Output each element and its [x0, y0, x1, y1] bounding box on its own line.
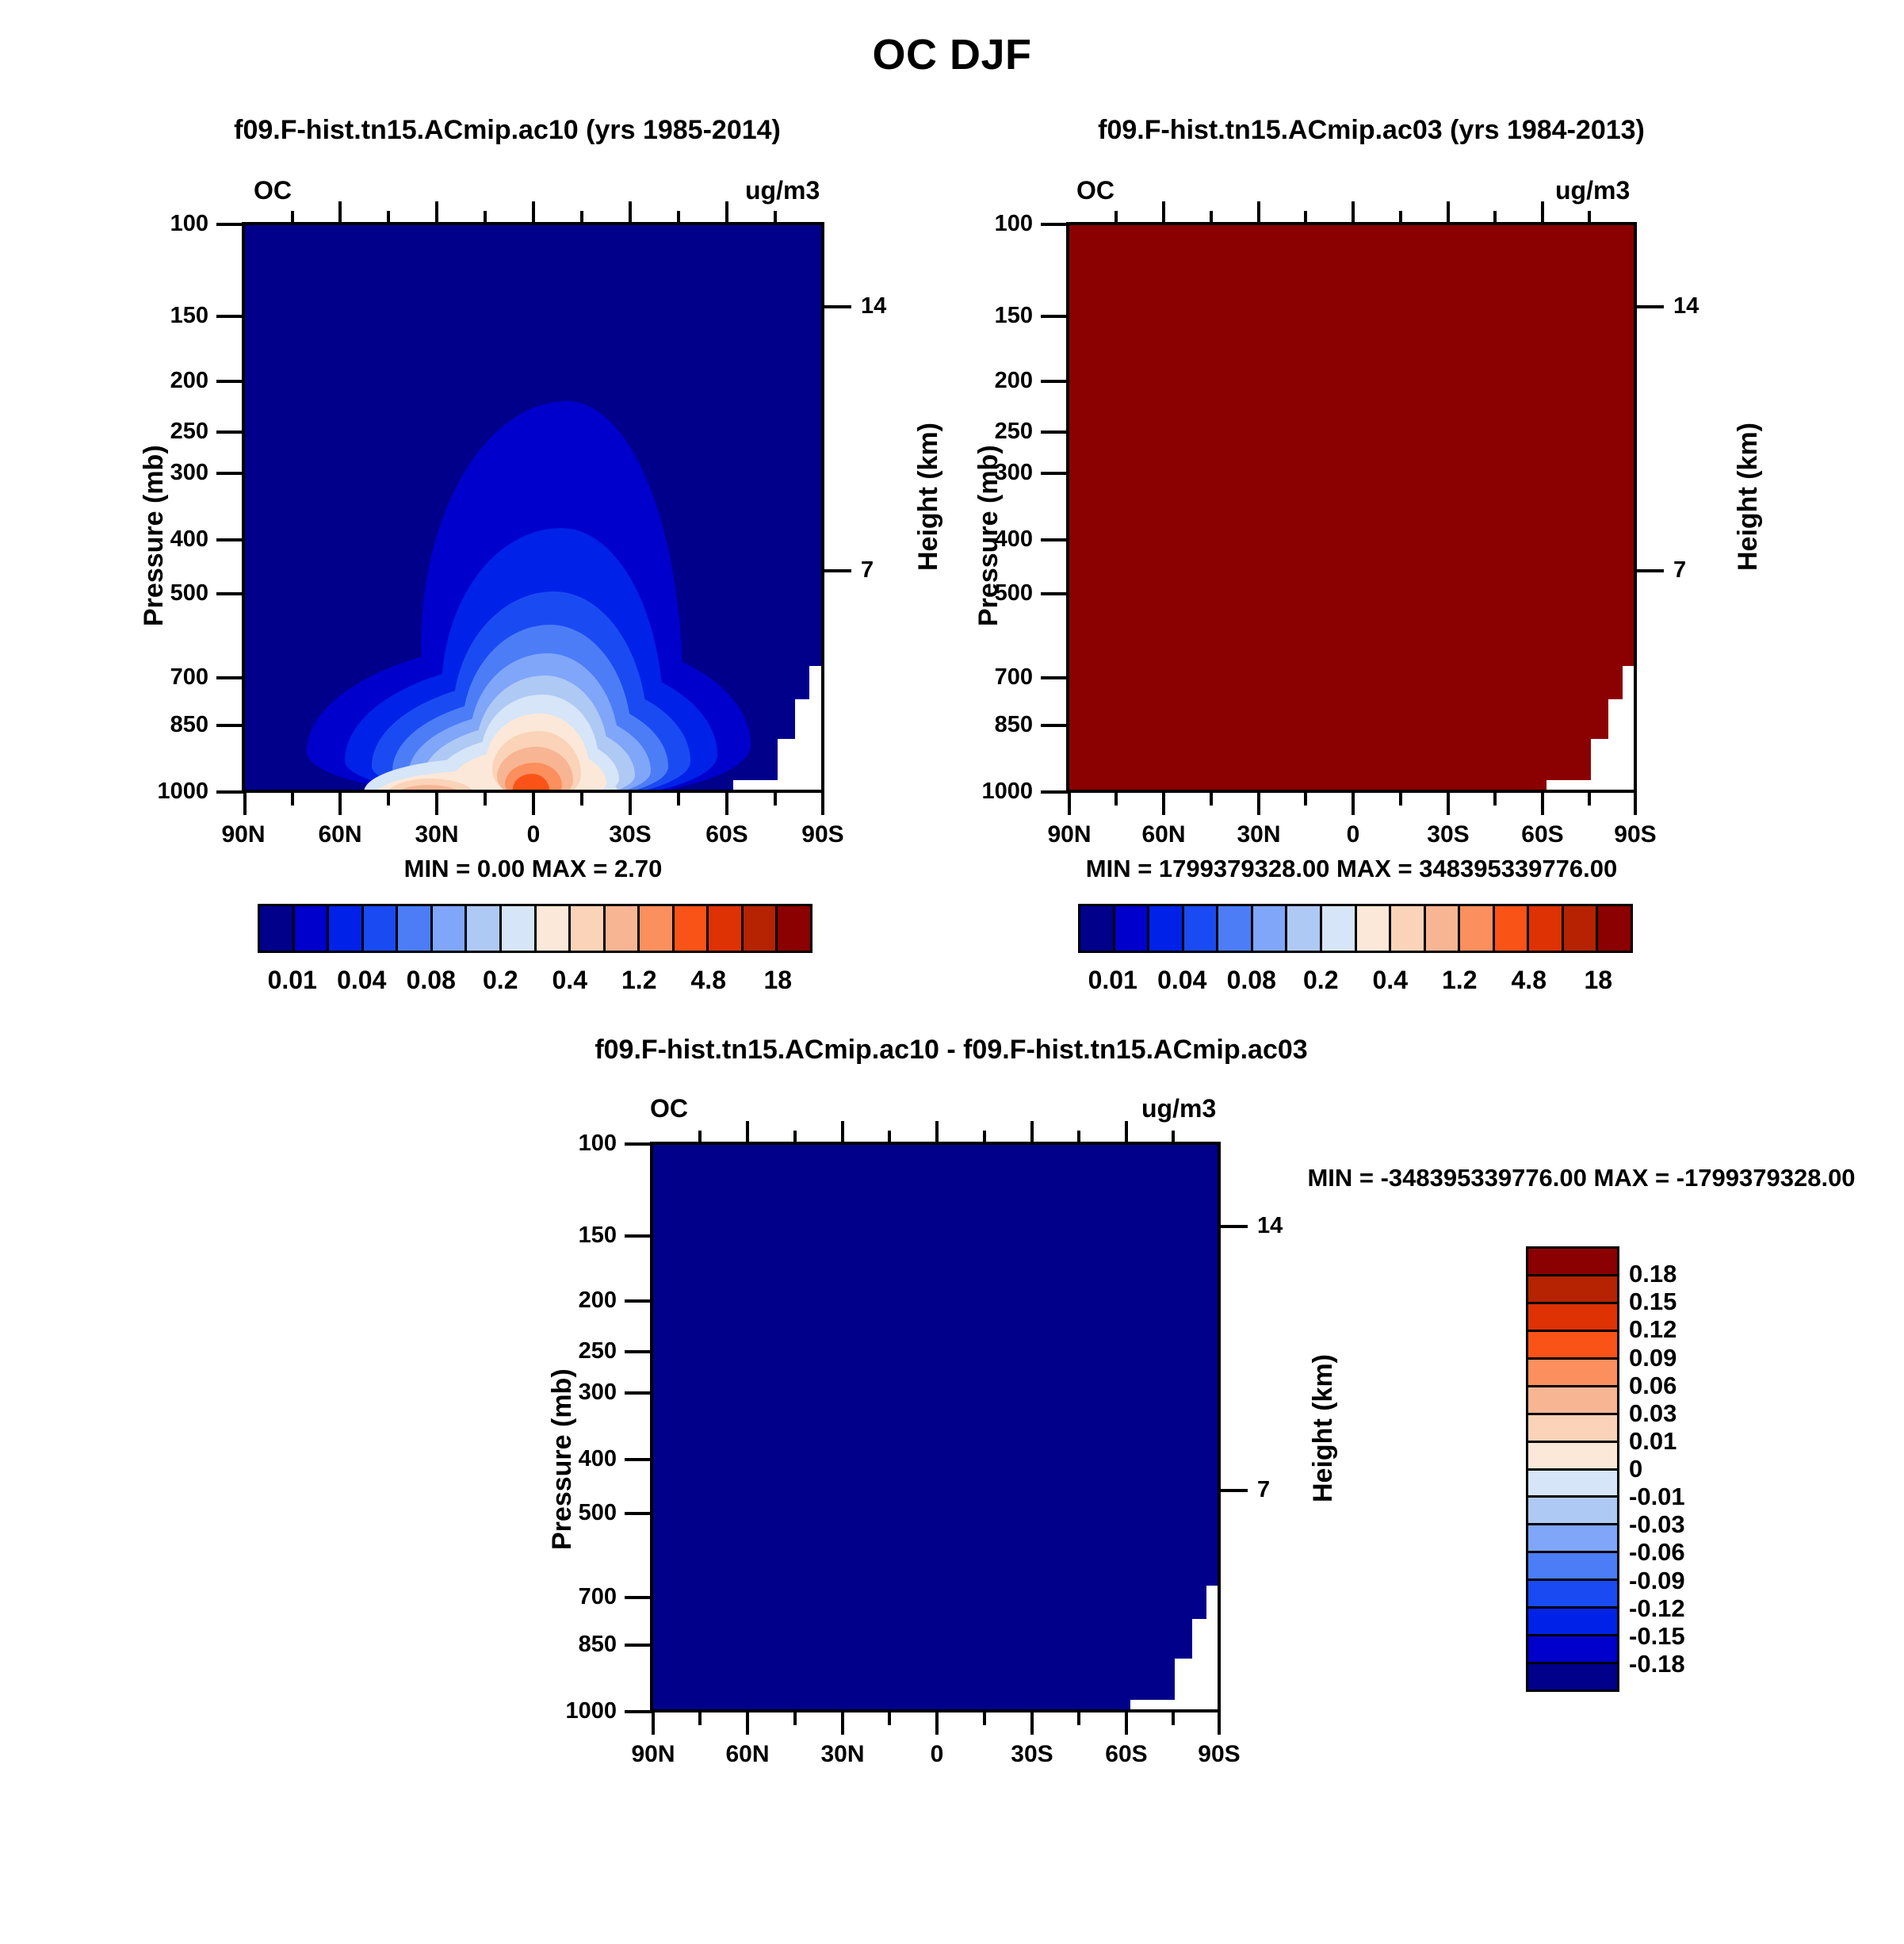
colorbar-tick-label: 0.04	[1157, 966, 1206, 995]
terrain-mask-step-1	[575, 790, 733, 793]
pressure-label: 400	[105, 526, 208, 553]
lat-tick-minor	[1399, 793, 1402, 806]
pressure-label: 250	[930, 419, 1033, 445]
ptick	[216, 676, 243, 679]
lat-tick-major	[243, 793, 247, 815]
lat-tick-minor	[484, 793, 487, 806]
diff-colorbar-tick-label: 0.18	[1629, 1260, 1677, 1288]
lat-tick-major	[746, 1712, 749, 1735]
ptick	[1041, 472, 1068, 475]
lat-tick-minor	[1172, 1712, 1175, 1725]
top-tick-major	[935, 1121, 939, 1143]
ptick	[216, 538, 243, 541]
lat-tick-major	[1218, 1712, 1221, 1735]
top-tick-major	[1030, 1121, 1034, 1143]
pressure-label: 100	[514, 1131, 617, 1157]
diff-colorbar-cell-12	[1528, 1581, 1617, 1609]
panel-1-minmax: MIN = 0.00 MAX = 2.70	[242, 855, 824, 883]
pressure-label: 1000	[105, 779, 208, 805]
htick	[1637, 305, 1664, 308]
diff-colorbar-tick-label: -0.09	[1629, 1567, 1685, 1595]
lat-tick-major	[629, 793, 632, 815]
ptick	[1041, 724, 1068, 727]
ptick	[1041, 676, 1068, 679]
htick	[824, 305, 851, 308]
diff-colorbar-tick-label: -0.12	[1629, 1594, 1685, 1623]
colorbar-cell-13	[709, 906, 744, 951]
colorbar-tick-label: 0.4	[1373, 966, 1408, 995]
ptick	[216, 380, 243, 383]
ptick	[1041, 431, 1068, 434]
lat-label: 0	[1298, 821, 1409, 848]
pressure-label: 100	[105, 211, 208, 237]
diff-colorbar-cell-8	[1528, 1471, 1617, 1498]
lat-tick-minor	[580, 793, 583, 806]
top-tick-major	[1125, 1121, 1128, 1143]
colorbar-tick-label: 0.2	[1303, 966, 1338, 995]
ptick	[1041, 538, 1068, 541]
ptick	[216, 724, 243, 727]
ptick	[1041, 790, 1068, 794]
lat-tick-major	[1634, 793, 1637, 815]
page-title: OC DJF	[0, 30, 1904, 79]
top-tick-minor	[1114, 211, 1118, 224]
colorbar-cell-4	[398, 906, 433, 951]
height-label: 14	[1673, 293, 1737, 320]
lat-tick-minor	[1114, 793, 1118, 806]
terrain-mask-step-3	[1175, 1659, 1192, 1712]
colorbar-cell-0	[260, 906, 295, 951]
lat-tick-minor	[774, 793, 777, 806]
lat-tick-major	[841, 1712, 844, 1735]
ptick	[216, 315, 243, 318]
panel-2-plot-area[interactable]	[1066, 222, 1637, 793]
pressure-label: 850	[105, 712, 208, 738]
diff-colorbar-tick-label: 0.06	[1629, 1372, 1677, 1400]
top-tick-major	[1352, 201, 1355, 224]
lat-tick-minor	[677, 793, 680, 806]
lat-tick-major	[1125, 1712, 1128, 1735]
panel-2-minmax: MIN = 1799379328.00 MAX = 348395339776.0…	[1050, 855, 1653, 883]
lat-tick-minor	[983, 1712, 986, 1725]
pressure-label: 300	[514, 1380, 617, 1406]
lat-tick-major	[1257, 793, 1260, 815]
top-tick-minor	[774, 211, 777, 224]
ptick	[625, 1596, 652, 1599]
lat-tick-major	[1541, 793, 1544, 815]
diff-colorbar-cell-10	[1528, 1525, 1617, 1553]
pressure-label: 200	[105, 368, 208, 394]
panel-2-units-label: ug/m3	[1555, 176, 1630, 205]
lat-tick-major	[1162, 793, 1165, 815]
htick	[1637, 569, 1664, 572]
lat-tick-minor	[1077, 1712, 1080, 1725]
panel-1-variable-label: OC	[254, 176, 292, 205]
colorbar-cell-5	[1253, 906, 1288, 951]
pressure-label: 500	[930, 580, 1033, 607]
panel-3-title: f09.F-hist.tn15.ACmip.ac10 - f09.F-hist.…	[396, 1035, 1506, 1066]
terrain-mask-step-1	[970, 1709, 1130, 1712]
colorbar-cell-8	[1357, 906, 1392, 951]
pressure-label: 250	[514, 1338, 617, 1364]
top-tick-minor	[1493, 211, 1497, 224]
terrain-mask-step-1	[1386, 790, 1547, 793]
htick	[824, 569, 851, 572]
pressure-label: 850	[930, 712, 1033, 738]
top-tick-major	[841, 1121, 844, 1143]
ptick	[625, 1458, 652, 1461]
pressure-label: 150	[105, 303, 208, 329]
colorbar-tick-label: 0.08	[1227, 966, 1276, 995]
diff-colorbar-tick-label: 0	[1629, 1455, 1642, 1483]
panel-3-units-label: ug/m3	[1141, 1094, 1216, 1123]
diff-colorbar-cell-11	[1528, 1553, 1617, 1581]
terrain-mask-step-5	[1206, 1586, 1221, 1712]
ptick	[216, 223, 243, 226]
lat-tick-major	[338, 793, 342, 815]
colorbar-cell-2	[329, 906, 364, 951]
colorbar-cell-1	[1115, 906, 1150, 951]
colorbar-tick-label: 18	[1584, 966, 1612, 995]
colorbar-tick-label: 0.2	[483, 966, 518, 995]
colorbar-cell-15	[778, 906, 810, 951]
lat-label: 90S	[1580, 821, 1691, 848]
top-tick-minor	[1172, 1131, 1175, 1143]
ptick	[1041, 315, 1068, 318]
top-tick-major	[338, 201, 342, 224]
lat-label: 0	[881, 1741, 992, 1768]
top-tick-major	[1162, 201, 1165, 224]
pressure-label: 300	[930, 460, 1033, 486]
diff-colorbar-tick-label: 0.09	[1629, 1344, 1677, 1372]
colorbar-cell-14	[744, 906, 778, 951]
colorbar-cell-12	[1495, 906, 1530, 951]
ptick	[625, 1512, 652, 1515]
lat-tick-major	[1068, 793, 1071, 815]
pressure-label: 700	[514, 1584, 617, 1610]
pressure-label: 500	[105, 580, 208, 607]
lat-tick-minor	[1493, 793, 1497, 806]
panel-3-variable-label: OC	[650, 1094, 688, 1123]
ptick	[625, 1391, 652, 1395]
colorbar-tick-label: 0.01	[268, 966, 317, 995]
lat-tick-minor	[698, 1712, 702, 1725]
pressure-label: 200	[514, 1288, 617, 1314]
colorbar-cell-0	[1080, 906, 1115, 951]
top-tick-major	[1541, 201, 1544, 224]
top-tick-minor	[1077, 1131, 1080, 1143]
colorbar-cell-6	[1287, 906, 1322, 951]
lat-label: 0	[478, 821, 589, 848]
panel-2-title: f09.F-hist.tn15.ACmip.ac03 (yrs 1984-201…	[951, 115, 1791, 146]
diff-colorbar-cell-15	[1528, 1664, 1617, 1690]
diff-colorbar-cell-0	[1528, 1249, 1617, 1276]
pressure-label: 150	[930, 303, 1033, 329]
lat-label: 60S	[671, 821, 782, 848]
pressure-label: 500	[514, 1500, 617, 1526]
colorbar-tick-label: 0.04	[337, 966, 386, 995]
colorbar-cell-9	[1391, 906, 1426, 951]
panel-1-units-label: ug/m3	[745, 176, 820, 205]
height-label: 14	[861, 293, 924, 320]
ptick	[625, 1350, 652, 1353]
colorbar-cell-12	[675, 906, 709, 951]
diff-colorbar-cell-14	[1528, 1636, 1617, 1664]
diff-colorbar-tick-label: 0.03	[1629, 1399, 1677, 1428]
diff-colorbar-cell-2	[1528, 1304, 1617, 1332]
lat-tick-minor	[888, 1712, 891, 1725]
panel-3-colorbar[interactable]	[1526, 1246, 1619, 1692]
top-tick-minor	[291, 211, 294, 224]
colorbar-cell-4	[1218, 906, 1253, 951]
diff-colorbar-tick-label: -0.15	[1629, 1622, 1685, 1651]
panel-3-background-fill	[653, 1145, 1218, 1709]
lat-label: 60N	[285, 821, 396, 848]
top-tick-major	[1257, 201, 1260, 224]
pressure-label: 100	[930, 211, 1033, 237]
lat-tick-minor	[291, 793, 294, 806]
panel-2-variable-label: OC	[1076, 176, 1114, 205]
pressure-label: 250	[105, 419, 208, 445]
ptick	[625, 1710, 652, 1713]
colorbar-cell-9	[571, 906, 606, 951]
lat-tick-major	[652, 1712, 655, 1735]
diff-colorbar-tick-label: 0.01	[1629, 1427, 1677, 1456]
colorbar-cell-1	[295, 906, 330, 951]
colorbar-cell-10	[606, 906, 640, 951]
panel-2-background-fill	[1069, 225, 1634, 790]
diff-colorbar-cell-9	[1528, 1498, 1617, 1525]
colorbar-tick-label: 0.01	[1088, 966, 1137, 995]
top-tick-minor	[580, 211, 583, 224]
top-tick-minor	[888, 1131, 891, 1143]
terrain-mask-step-3	[778, 739, 795, 793]
htick	[1221, 1225, 1248, 1228]
ptick	[1041, 592, 1068, 595]
colorbar-cell-14	[1564, 906, 1599, 951]
diff-colorbar-cell-6	[1528, 1415, 1617, 1443]
top-tick-minor	[484, 211, 487, 224]
lat-tick-major	[1447, 793, 1450, 815]
top-tick-minor	[387, 211, 390, 224]
diff-colorbar-tick-label: -0.06	[1629, 1538, 1685, 1567]
top-tick-minor	[793, 1131, 797, 1143]
top-tick-minor	[677, 211, 680, 224]
colorbar-cell-5	[433, 906, 468, 951]
panel-2-height-axis-title: Height (km)	[1733, 423, 1764, 571]
top-tick-minor	[1588, 211, 1591, 224]
ptick	[1041, 380, 1068, 383]
ptick	[216, 431, 243, 434]
pressure-label: 1000	[930, 779, 1033, 805]
pressure-label: 150	[514, 1223, 617, 1249]
colorbar-cell-2	[1149, 906, 1184, 951]
diff-colorbar-tick-label: -0.03	[1629, 1510, 1685, 1539]
panel-3-minmax: MIN = -348395339776.00 MAX = -1799379328…	[1268, 1164, 1894, 1192]
diff-colorbar-cell-5	[1528, 1387, 1617, 1415]
colorbar-cell-10	[1426, 906, 1461, 951]
htick	[1221, 1489, 1248, 1492]
ptick	[1041, 223, 1068, 226]
colorbar-cell-11	[1460, 906, 1495, 951]
top-tick-minor	[1210, 211, 1213, 224]
pressure-label: 300	[105, 460, 208, 486]
colorbar-cell-11	[640, 906, 675, 951]
lat-tick-major	[1352, 793, 1355, 815]
diff-colorbar-cell-7	[1528, 1443, 1617, 1471]
pressure-label: 850	[514, 1632, 617, 1658]
colorbar-cell-15	[1598, 906, 1631, 951]
lat-tick-minor	[387, 793, 390, 806]
lat-tick-minor	[1210, 793, 1213, 806]
ptick	[216, 472, 243, 475]
colorbar-tick-label: 1.2	[1442, 966, 1477, 995]
height-label: 7	[861, 557, 924, 584]
panel-1-plot-area[interactable]	[242, 222, 824, 793]
diff-colorbar-tick-label: 0.15	[1629, 1288, 1677, 1316]
lat-tick-major	[435, 793, 438, 815]
lat-label: 30S	[575, 821, 686, 848]
top-tick-major	[435, 201, 438, 224]
top-tick-minor	[1304, 211, 1307, 224]
pressure-label: 200	[930, 368, 1033, 394]
terrain-mask-step-2	[733, 780, 778, 793]
top-tick-major	[746, 1121, 749, 1143]
panel-3-plot-area[interactable]	[650, 1142, 1221, 1712]
lat-label: 30N	[381, 821, 492, 848]
lat-label: 60N	[1108, 821, 1219, 848]
panel-2-colorbar-labels: 0.010.040.080.20.41.24.818	[1078, 966, 1633, 997]
ptick	[625, 1234, 652, 1238]
panel-1-colorbar[interactable]	[258, 904, 812, 953]
diff-colorbar-cell-3	[1528, 1332, 1617, 1360]
terrain-mask-step-2	[1130, 1700, 1175, 1712]
colorbar-cell-7	[502, 906, 537, 951]
colorbar-tick-label: 4.8	[1512, 966, 1547, 995]
terrain-mask-step-5	[809, 666, 824, 793]
top-tick-minor	[698, 1131, 702, 1143]
colorbar-cell-8	[537, 906, 572, 951]
lat-tick-major	[821, 793, 824, 815]
diff-colorbar-cell-1	[1528, 1276, 1617, 1304]
lat-tick-major	[725, 793, 728, 815]
colorbar-cell-13	[1529, 906, 1564, 951]
colorbar-cell-6	[467, 906, 502, 951]
pressure-label: 400	[930, 526, 1033, 553]
colorbar-tick-label: 0.4	[552, 966, 587, 995]
lat-tick-minor	[1304, 793, 1307, 806]
panel-3-colorbar-labels: 0.180.150.120.090.060.030.010-0.01-0.03-…	[1629, 1246, 1787, 1692]
panel-1-title: f09.F-hist.tn15.ACmip.ac10 (yrs 1985-201…	[111, 115, 904, 146]
pressure-label: 400	[514, 1446, 617, 1472]
ptick	[216, 790, 243, 794]
panel-2-colorbar[interactable]	[1078, 904, 1633, 953]
ptick	[625, 1142, 652, 1146]
terrain-mask-step-4	[1192, 1619, 1206, 1712]
diff-colorbar-cell-4	[1528, 1360, 1617, 1387]
lat-tick-major	[532, 793, 535, 815]
pressure-label: 700	[930, 664, 1033, 691]
terrain-mask-step-4	[1608, 699, 1623, 793]
lat-label: 90S	[1164, 1741, 1275, 1768]
ptick	[216, 592, 243, 595]
lat-tick-minor	[793, 1712, 797, 1725]
top-tick-minor	[1399, 211, 1402, 224]
top-tick-major	[725, 201, 728, 224]
diff-colorbar-tick-label: -0.01	[1629, 1483, 1685, 1511]
colorbar-cell-7	[1322, 906, 1357, 951]
diff-colorbar-cell-13	[1528, 1609, 1617, 1636]
panel-1-colorbar-labels: 0.010.040.080.20.41.24.818	[258, 966, 812, 997]
ptick	[625, 1644, 652, 1647]
height-label: 7	[1257, 1477, 1321, 1503]
lat-tick-major	[1030, 1712, 1034, 1735]
diff-colorbar-tick-label: -0.18	[1629, 1650, 1685, 1678]
lat-label: 60N	[692, 1741, 803, 1768]
colorbar-cell-3	[1184, 906, 1219, 951]
ptick	[625, 1299, 652, 1303]
terrain-mask-step-3	[1591, 739, 1608, 793]
terrain-mask-step-5	[1623, 666, 1637, 793]
terrain-mask-step-2	[1547, 780, 1591, 793]
diff-colorbar-tick-label: 0.12	[1629, 1315, 1677, 1344]
colorbar-tick-label: 1.2	[621, 966, 656, 995]
pressure-label: 1000	[514, 1698, 617, 1724]
colorbar-cell-3	[364, 906, 399, 951]
lat-label: 90S	[767, 821, 878, 848]
top-tick-minor	[983, 1131, 986, 1143]
colorbar-tick-label: 4.8	[691, 966, 726, 995]
lat-label: 90N	[188, 821, 299, 848]
lat-tick-minor	[1588, 793, 1591, 806]
pressure-label: 700	[105, 664, 208, 691]
colorbar-tick-label: 0.08	[407, 966, 456, 995]
top-tick-major	[1447, 201, 1450, 224]
height-label: 7	[1673, 557, 1737, 584]
colorbar-tick-label: 18	[763, 966, 792, 995]
top-tick-major	[629, 201, 632, 224]
height-label: 14	[1257, 1213, 1321, 1239]
lat-tick-major	[935, 1712, 939, 1735]
terrain-mask-step-4	[795, 699, 809, 793]
top-tick-major	[532, 201, 535, 224]
